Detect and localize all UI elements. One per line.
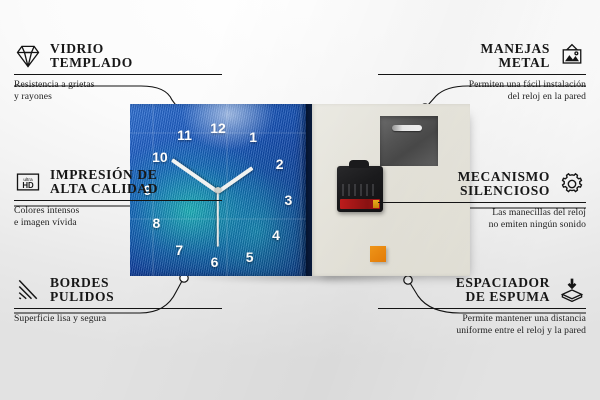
feature-divider [14,308,222,309]
battery-compartment [340,199,380,209]
clock-numeral-12: 12 [210,121,226,135]
feature-divider [378,202,586,203]
picture-frame-icon [558,42,586,70]
feature-impresion-alta-calidad: ultra HD IMPRESIÓN DE ALTA CALIDAD Color… [14,168,222,228]
clock-numeral-2: 2 [276,157,284,171]
feature-description-line: no emiten ningún sonido [378,219,586,230]
feature-title-line: MANEJAS [481,42,550,56]
feature-title-line: MECANISMO [458,170,550,184]
mechanism-detail [342,184,376,196]
clock-mechanism-part [337,166,383,212]
feature-title: BORDES PULIDOS [50,276,114,304]
clock-numeral-5: 5 [246,250,254,264]
feature-title: MECANISMO SILENCIOSO [458,170,550,198]
feature-title: MANEJAS METAL [481,42,550,70]
feature-description-line: Permiten una fácil instalación [378,79,586,90]
feature-description-line: uniforme entre el reloj y la pared [378,325,586,336]
gear-icon [558,170,586,198]
feature-title-line: BORDES [50,276,114,290]
feature-description: Superficie lisa y segura [14,313,222,324]
ultra-hd-icon: ultra HD [14,168,42,196]
feature-title: VIDRIO TEMPLADO [50,42,133,70]
feature-description: Permite mantener una distancia uniforme … [378,313,586,336]
feature-divider [14,200,222,201]
feature-title-line: ALTA CALIDAD [50,182,158,196]
feature-title-line: TEMPLADO [50,56,133,70]
feature-description-line: Resistencia a grietas [14,79,222,90]
clock-numeral-6: 6 [211,255,219,269]
feature-title: ESPACIADOR DE ESPUMA [456,276,550,304]
feature-title-line: DE ESPUMA [456,290,550,304]
infographic-canvas: 12 1 2 3 4 5 6 7 8 9 10 11 [0,0,600,400]
clock-numeral-11: 11 [177,128,192,142]
feature-description-line: Colores intensos [14,205,222,216]
feature-title-line: SILENCIOSO [458,184,550,198]
feature-description-line: Superficie lisa y segura [14,313,222,324]
feature-vidrio-templado: VIDRIO TEMPLADO Resistencia a grietas y … [14,42,222,102]
hanger-slot [392,125,422,131]
feature-title-line: METAL [481,56,550,70]
clock-numeral-7: 7 [175,243,183,257]
foam-spacer-part [370,246,386,262]
feature-description-line: Permite mantener una distancia [378,313,586,324]
feature-description: Resistencia a grietas y rayones [14,79,222,102]
diamond-icon [14,42,42,70]
feature-description: Colores intensos e imagen vívida [14,205,222,228]
feature-description: Las manecillas del reloj no emiten ningú… [378,207,586,230]
feature-divider [378,74,586,75]
clock-numeral-1: 1 [249,130,257,144]
clock-numeral-10: 10 [152,150,168,164]
clock-hour-hand [217,166,254,193]
feature-bordes-pulidos: BORDES PULIDOS Superficie lisa y segura [14,276,222,325]
feature-description-line: y rayones [14,91,222,102]
clock-numeral-3: 3 [284,193,292,207]
svg-text:HD: HD [22,181,34,190]
mechanism-tab [349,160,369,168]
clock-numeral-4: 4 [272,228,280,242]
feature-title-line: IMPRESIÓN DE [50,168,158,182]
feature-divider [14,74,222,75]
feature-description-line: Las manecillas del reloj [378,207,586,218]
feature-espaciador-de-espuma: ESPACIADOR DE ESPUMA Permite mantener un… [378,276,586,336]
feature-description-line: del reloj en la pared [378,91,586,102]
diagonal-lines-icon [14,276,42,304]
feature-manejas-metal: MANEJAS METAL Permiten una fácil instala… [378,42,586,102]
feature-mecanismo-silencioso: MECANISMO SILENCIOSO Las manecillas del … [378,170,586,230]
foam-spacer-icon [558,276,586,304]
feature-description: Permiten una fácil instalación del reloj… [378,79,586,102]
feature-title-line: ESPACIADOR [456,276,550,290]
feature-title-line: PULIDOS [50,290,114,304]
feature-title-line: VIDRIO [50,42,133,56]
feature-divider [378,308,586,309]
feature-title: IMPRESIÓN DE ALTA CALIDAD [50,168,158,196]
feature-description-line: e imagen vívida [14,217,222,228]
metal-hanger-part [380,116,438,166]
